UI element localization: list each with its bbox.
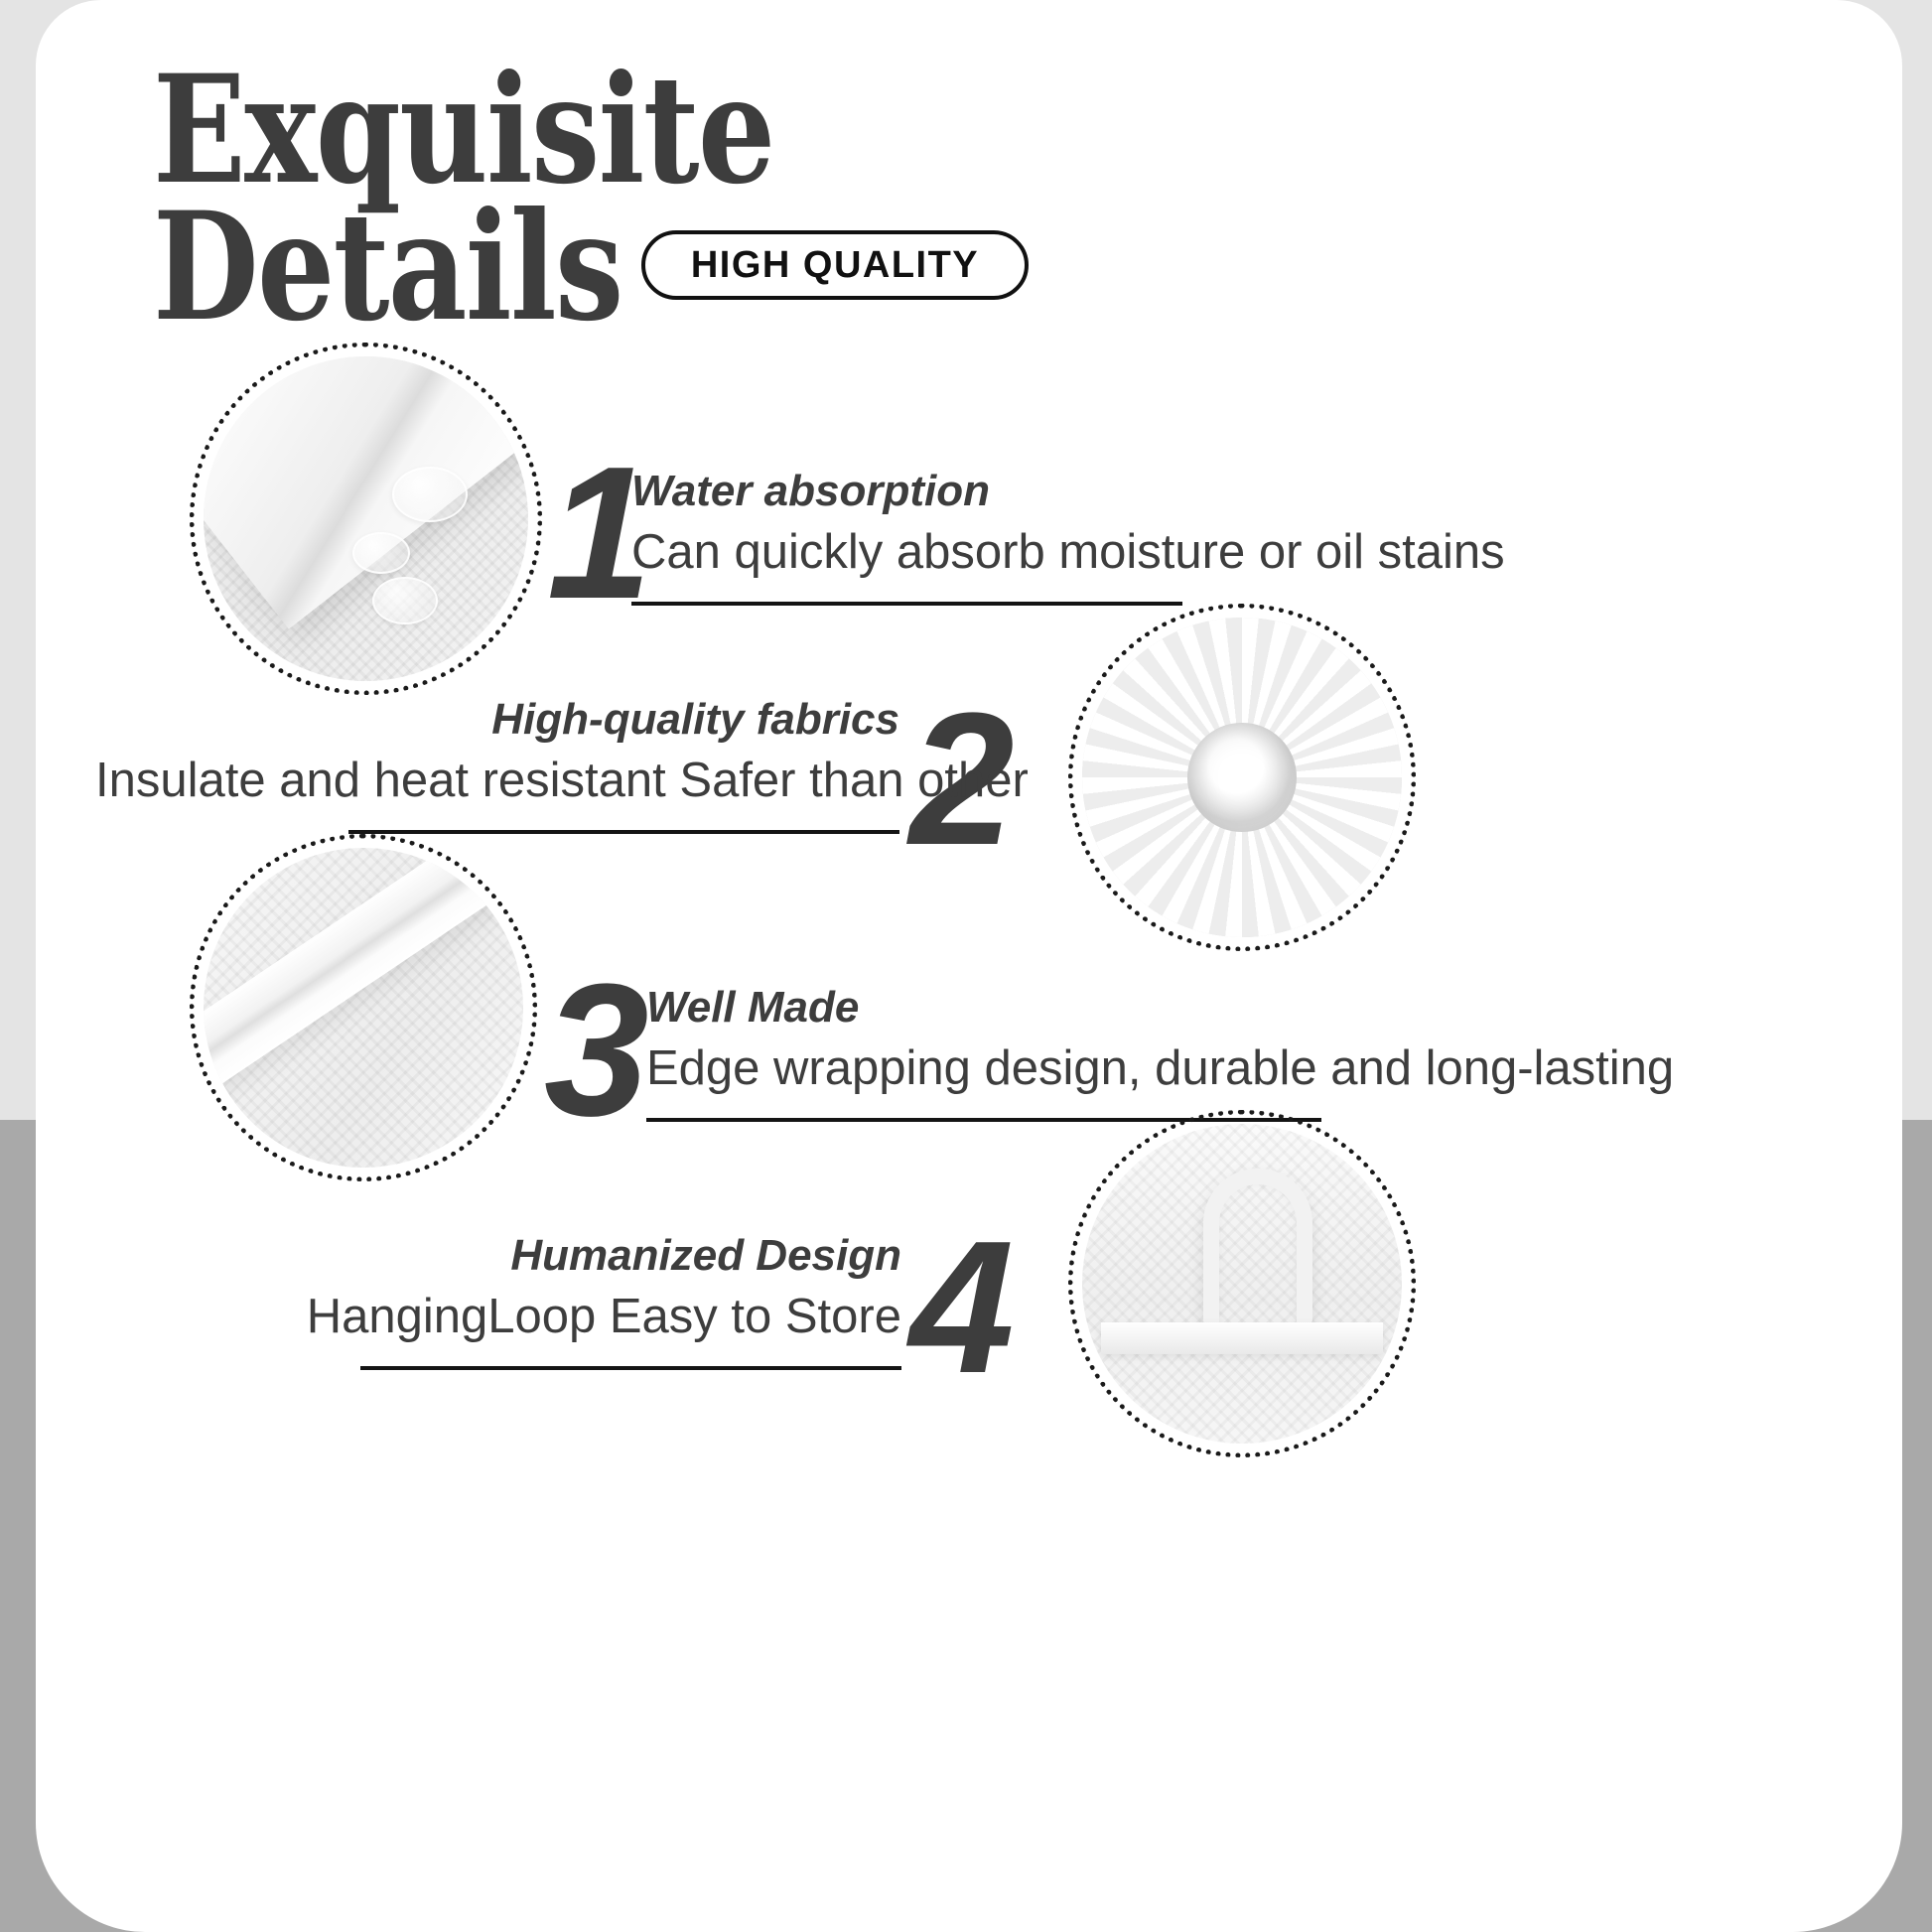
feature-heading-1: Water absorption [631,467,1346,516]
feature-heading-4: Humanized Design [95,1231,901,1281]
feature-rule-2 [348,830,899,834]
feature-description-3: Edge wrapping design, durable and long-l… [646,1040,1470,1096]
feature-heading-3: Well Made [646,983,1470,1033]
feature-description-2: Insulate and heat resistant Safer than o… [95,753,899,808]
status-badge: HIGH QUALITY [641,230,1029,300]
feature-block-2: High-quality fabrics Insulate and heat r… [95,695,899,834]
feature-photo-4-image [1082,1124,1402,1444]
feature-rule-4 [360,1366,901,1370]
content-card: ExquisiteDetails HIGH QUALITY 1 Water ab… [36,0,1902,1932]
feature-number-4: 4 [909,1213,1009,1402]
feature-block-1: Water absorption Can quickly absorb mois… [631,467,1346,606]
feature-photo-2-image [1082,618,1402,937]
feature-number-3: 3 [544,956,643,1145]
feature-description-1: Can quickly absorb moisture or oil stain… [631,524,1346,580]
feature-heading-2: High-quality fabrics [95,695,899,745]
feature-photo-1-image [204,356,528,681]
feature-photo-1 [190,343,542,695]
feature-rule-1 [631,602,1182,606]
feature-photo-2 [1068,604,1416,951]
page-title-line-2: Details [153,199,622,336]
feature-block-4: Humanized Design HangingLoop Easy to Sto… [95,1231,901,1370]
status-badge-label: HIGH QUALITY [691,244,979,287]
feature-block-3: Well Made Edge wrapping design, durable … [646,983,1470,1122]
feature-photo-4 [1068,1110,1416,1457]
feature-description-4: HangingLoop Easy to Store [95,1289,901,1344]
feature-photo-3 [190,834,537,1181]
feature-photo-3-image [204,848,523,1168]
